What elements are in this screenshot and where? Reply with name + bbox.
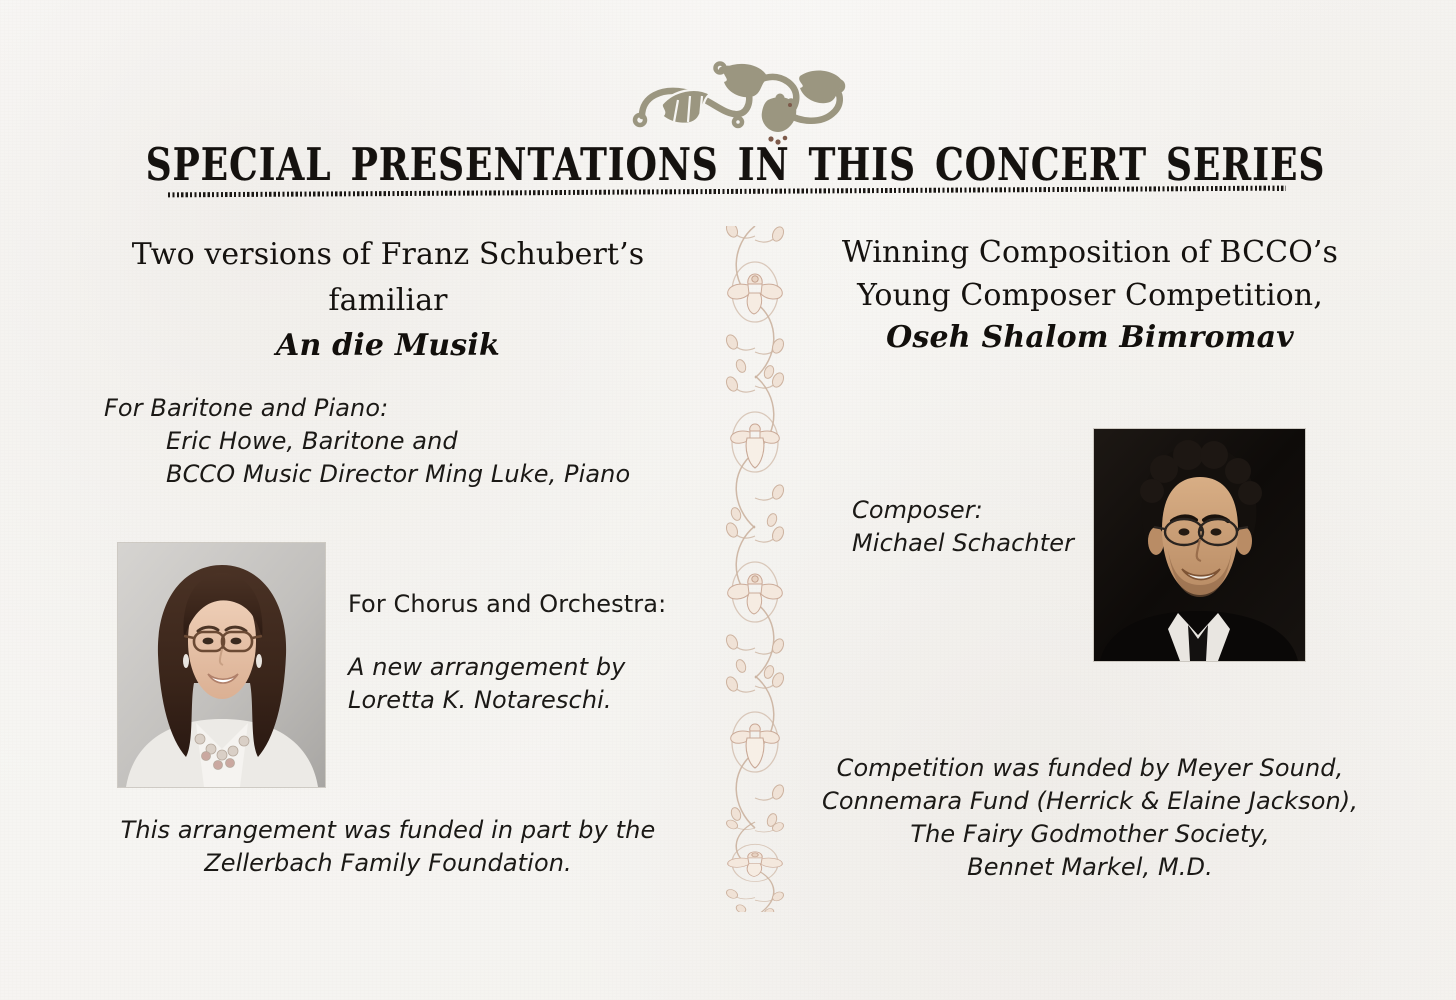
vertical-floral-vine-divider [722, 226, 788, 912]
photo-loretta-notareschi [118, 543, 325, 787]
photo-michael-schachter [1094, 429, 1305, 661]
program-page: SPECIAL PRESENTATIONS IN THIS CONCERT SE… [0, 0, 1456, 1000]
right-credit-line-4: Bennet Markel, M.D. [790, 851, 1390, 884]
chorus-line-2: Loretta K. Notareschi. [348, 684, 678, 717]
left-heading-line-1: Two versions of Franz Schubert’s familia… [78, 232, 698, 323]
performers-block: For Baritone and Piano: Eric Howe, Barit… [104, 392, 664, 491]
right-heading-line-1: Winning Composition of BCCO’s [790, 232, 1390, 275]
grapevine-leaf-ornament [628, 38, 864, 150]
left-column: Two versions of Franz Schubert’s familia… [78, 232, 698, 369]
right-work-title: Oseh Shalom Bimromav [790, 317, 1390, 360]
right-column: Winning Composition of BCCO’s Young Comp… [790, 232, 1390, 360]
right-heading: Winning Composition of BCCO’s Young Comp… [790, 232, 1390, 360]
performer-line-1: Eric Howe, Baritone and [104, 425, 664, 458]
right-heading-line-2: Young Composer Competition, [790, 275, 1390, 318]
right-credit-line-1: Competition was funded by Meyer Sound, [790, 752, 1390, 785]
right-credit-block: Competition was funded by Meyer Sound, C… [790, 752, 1390, 884]
chorus-line-1: A new arrangement by [348, 651, 678, 684]
spacer [348, 621, 678, 651]
performers-label: For Baritone and Piano: [104, 392, 664, 425]
composer-block: Composer: Michael Schachter [852, 494, 1092, 560]
page-title: SPECIAL PRESENTATIONS IN THIS CONCERT SE… [0, 142, 1456, 188]
right-credit-line-3: The Fairy Godmother Society, [790, 818, 1390, 851]
left-credit-line-1: This arrangement was funded in part by t… [78, 814, 698, 847]
chorus-block: For Chorus and Orchestra: A new arrangem… [348, 588, 678, 717]
right-credit-line-2: Connemara Fund (Herrick & Elaine Jackson… [790, 785, 1390, 818]
performer-line-2: BCCO Music Director Ming Luke, Piano [104, 458, 664, 491]
left-credit-block: This arrangement was funded in part by t… [78, 814, 698, 880]
chorus-label: For Chorus and Orchestra: [348, 588, 678, 621]
left-heading: Two versions of Franz Schubert’s familia… [78, 232, 698, 369]
left-credit-line-2: Zellerbach Family Foundation. [78, 847, 698, 880]
page-title-text: SPECIAL PRESENTATIONS IN THIS CONCERT SE… [145, 142, 1310, 188]
left-work-title: An die Musik [78, 323, 698, 369]
composer-label: Composer: [852, 494, 1092, 527]
composer-name: Michael Schachter [852, 527, 1092, 560]
